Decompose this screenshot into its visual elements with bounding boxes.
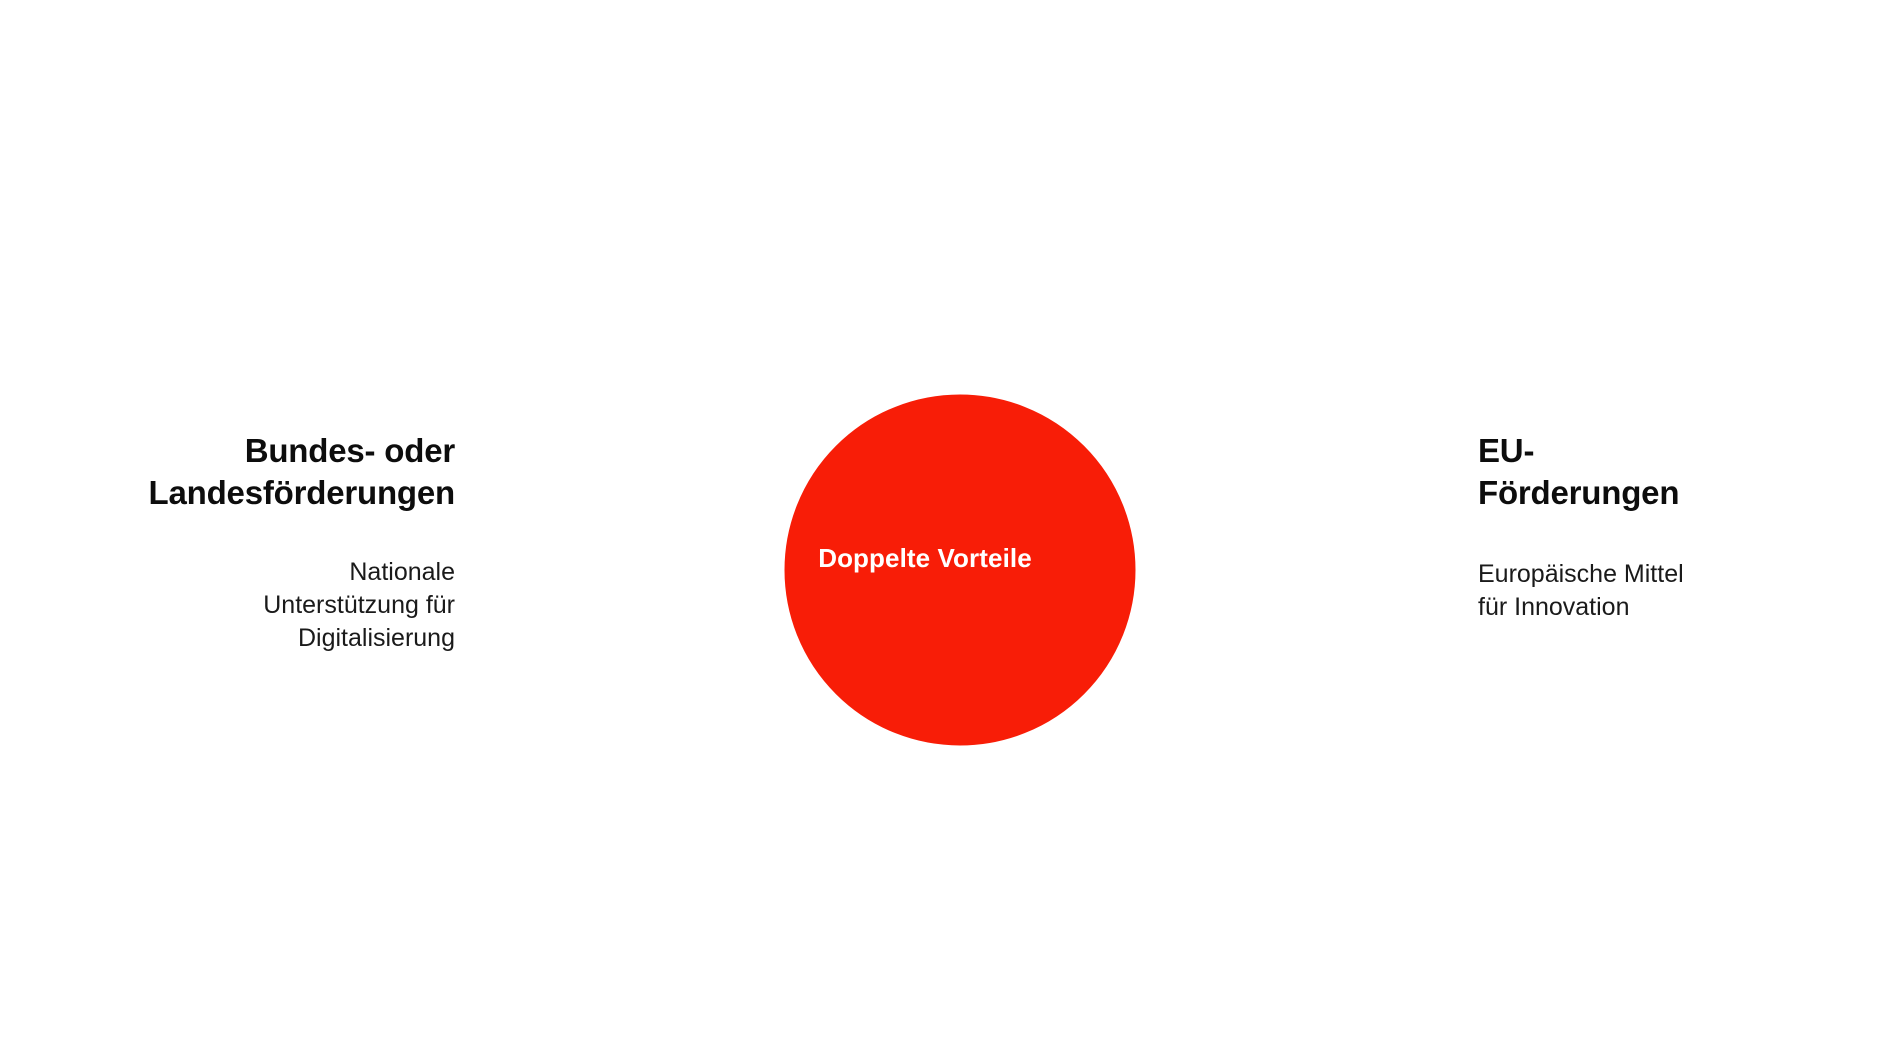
diagram-canvas: Bundes- oder Landesförderungen Nationale… bbox=[0, 0, 1880, 1058]
right-set-subtitle: Europäische Mittel für Innovation bbox=[1478, 558, 1880, 625]
left-set-text-block: Bundes- oder Landesförderungen Nationale… bbox=[35, 430, 455, 656]
official-with-flag-icon bbox=[614, 441, 789, 650]
right-set-text-block: EU- Förderungen Europäische Mittel für I… bbox=[1478, 430, 1880, 624]
globe-euro-icon bbox=[1147, 495, 1310, 651]
venn-svg bbox=[460, 330, 1460, 810]
intersection-circle[interactable] bbox=[783, 393, 1137, 747]
left-set-title: Bundes- oder Landesförderungen bbox=[35, 430, 455, 514]
right-set-title: EU- Förderungen bbox=[1478, 430, 1880, 514]
venn-diagram: Doppelte Vorteile bbox=[460, 330, 1460, 810]
left-set-subtitle: Nationale Unterstützung für Digitalisier… bbox=[35, 556, 455, 656]
